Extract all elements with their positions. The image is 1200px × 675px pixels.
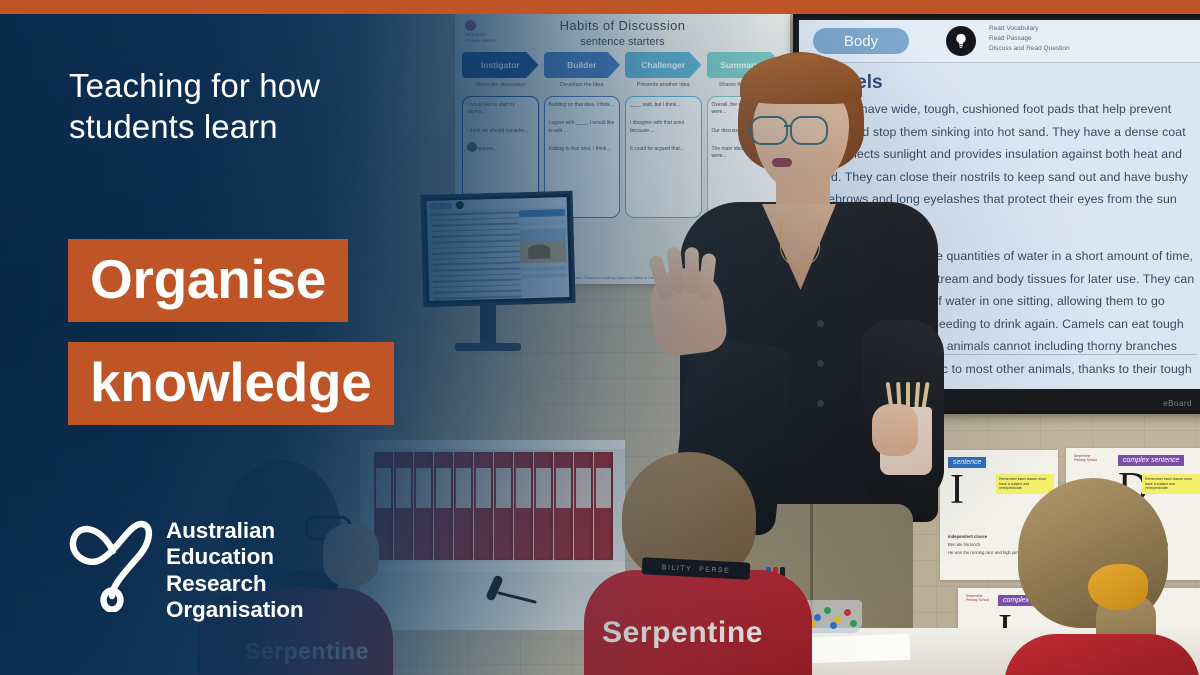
kicker-box-organise: Organise xyxy=(68,239,348,322)
aero-logo: Australian Education Research Organisati… xyxy=(68,508,368,620)
logo-line-1: Australian xyxy=(166,518,304,544)
logo-line-4: Organisation xyxy=(166,597,304,623)
aero-logo-text: Australian Education Research Organisati… xyxy=(166,518,304,623)
kicker-label-2: knowledge xyxy=(68,342,394,425)
orange-top-rule xyxy=(0,0,1200,14)
page-headline: Teaching for how students learn xyxy=(69,66,409,147)
logo-line-2: Education xyxy=(166,544,304,570)
headline-line-1: Teaching for how xyxy=(69,66,409,107)
kicker-label-1: Organise xyxy=(68,239,348,322)
logo-line-3: Research xyxy=(166,571,304,597)
headline-line-2: students learn xyxy=(69,107,409,148)
promo-banner: SerpentinePrimary School Habits of Discu… xyxy=(0,0,1200,675)
kicker-box-knowledge: knowledge xyxy=(68,342,394,425)
aero-infinity-loop-icon xyxy=(68,508,156,612)
